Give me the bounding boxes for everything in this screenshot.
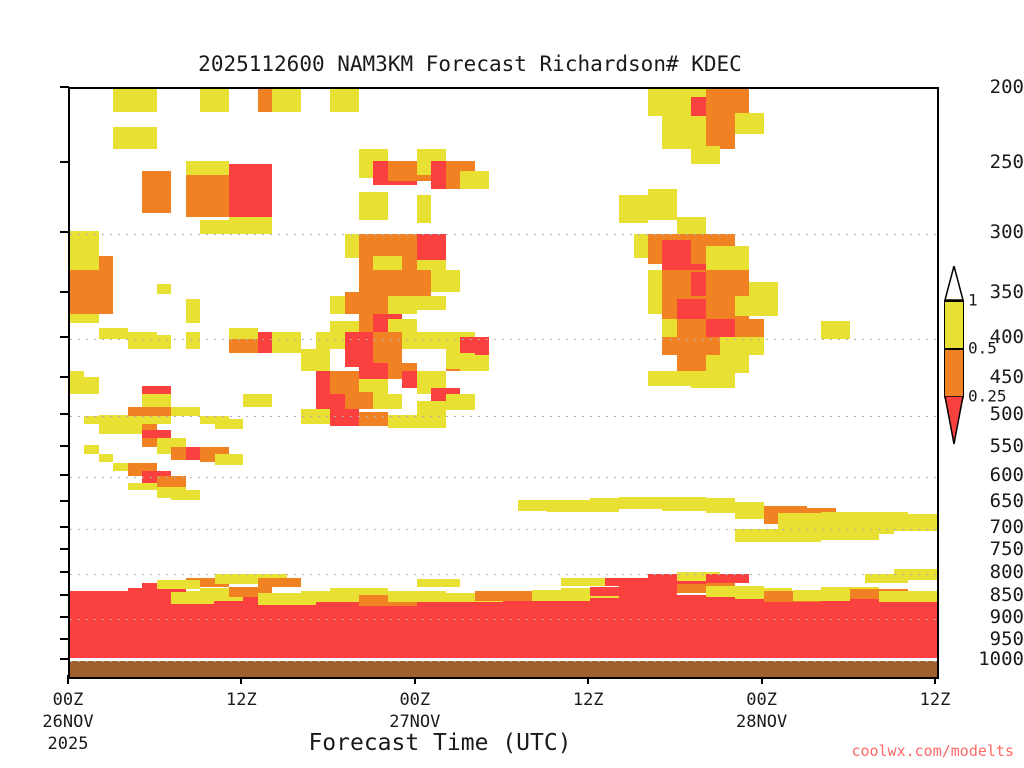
y-axis-tick-label: 750 [966,538,1024,560]
y-axis-tick-label: 200 [966,76,1024,98]
colorbar-segment [944,300,964,348]
chart-root: 2025112600 NAM3KM Forecast Richardson# K… [0,0,1024,768]
colorbar-label: 0.5 [968,339,997,358]
terrain-fill [70,661,937,677]
credit-text: coolwx.com/modelts [851,742,1014,760]
plot-area [68,87,939,679]
page-title: 2025112600 NAM3KM Forecast Richardson# K… [0,52,940,76]
x-axis-title: Forecast Time (UTC) [0,730,880,756]
y-axis-tick-label: 1000 [966,648,1024,670]
y-axis-tick-label: 700 [966,516,1024,538]
y-axis-tick-label: 950 [966,628,1024,650]
x-axis-tick-label: 12Z [920,690,951,710]
y-axis-tick-label: 800 [966,561,1024,583]
colorbar-lower-arrow-outline [944,396,964,445]
y-axis-tick-label: 850 [966,584,1024,606]
y-axis-tick-label: 300 [966,221,1024,243]
colorbar-label: 1 [968,291,978,310]
gridline [70,661,937,662]
y-axis-tick-label: 900 [966,606,1024,628]
y-axis-tick-label: 650 [966,490,1024,512]
x-axis-tick-label: 12Z [226,690,257,710]
x-axis-tick-label: 00Z [746,690,777,710]
y-axis-tick-label: 500 [966,403,1024,425]
colorbar-label: 0.25 [968,387,1007,406]
y-axis-tick-label: 450 [966,366,1024,388]
colorbar-divider [944,300,964,302]
colorbar-segment [944,348,964,396]
y-axis-tick-label: 550 [966,435,1024,457]
x-axis-tick-label: 00Z [53,690,84,710]
x-axis-tick-label: 27NOV [389,712,440,732]
colorbar-divider [944,348,964,350]
colorbar-legend: 10.50.25 [944,300,964,446]
x-axis-tick-label: 12Z [573,690,604,710]
x-axis-tick-label: 26NOV [42,712,93,732]
terrain-band [70,89,937,677]
x-axis-tick-label: 00Z [399,690,430,710]
colorbar-upper-arrow-outline [944,266,964,301]
y-axis-tick-label: 600 [966,464,1024,486]
x-axis-tick-label: 28NOV [736,712,787,732]
y-axis-tick-label: 250 [966,151,1024,173]
